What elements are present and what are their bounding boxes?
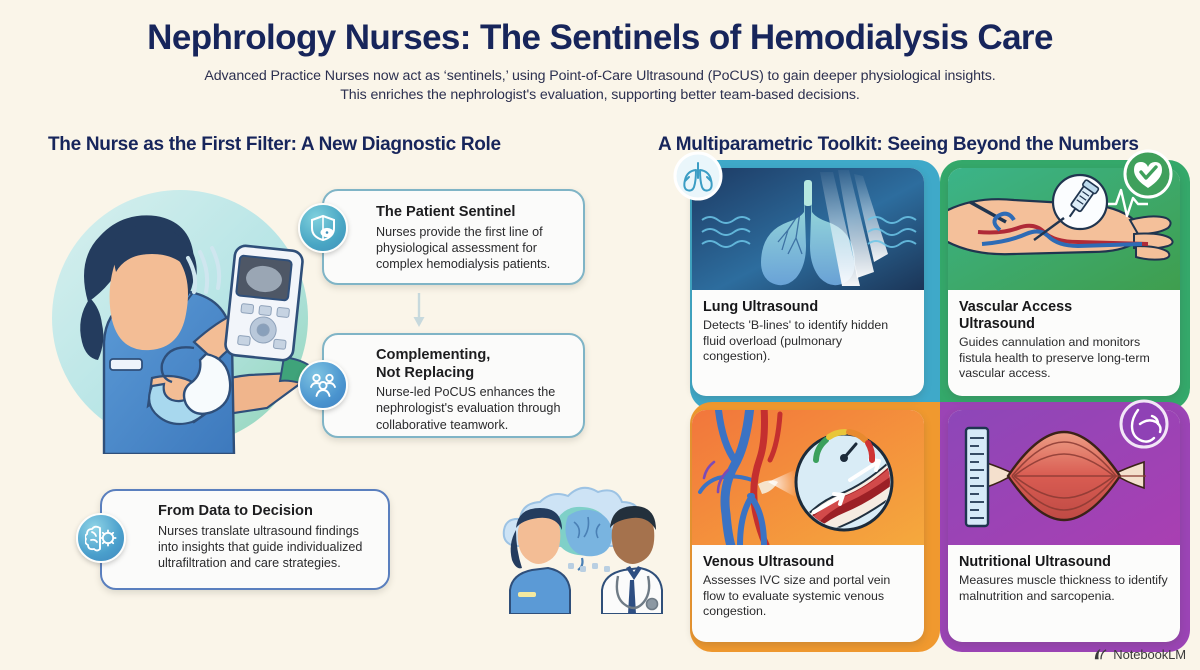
card-title: From Data to Decision <box>158 503 374 521</box>
card-complementing-not-replacing[interactable]: Complementing, Not Replacing Nurse-led P… <box>322 333 585 438</box>
card-description: Measures muscle thickness to identify ma… <box>959 573 1169 604</box>
card-description: Detects 'B-lines' to identify hidden flu… <box>703 318 913 365</box>
ultrasound-toolkit-grid: Lung Ultrasound Detects 'B-lines' to ide… <box>690 160 1190 652</box>
nurse-and-doctor-shared-thinking-illustration <box>484 484 684 614</box>
card-body: Nurses translate ultrasound findings int… <box>158 523 374 572</box>
page-title: Nephrology Nurses: The Sentinels of Hemo… <box>0 18 1200 58</box>
card-title: Lung Ultrasound <box>703 299 913 316</box>
connector-arrow-down-icon <box>412 291 426 331</box>
card-title-line-1: Vascular Access <box>959 299 1169 316</box>
nurse-performing-pocus-illustration <box>44 182 316 454</box>
flexed-bicep-icon <box>1118 398 1170 450</box>
card-vascular-access-ultrasound[interactable]: Vascular Access Ultrasound Guides cannul… <box>948 168 1180 396</box>
section-heading-left: The Nurse as the First Filter: A New Dia… <box>48 134 501 156</box>
card-title-line-1: Complementing, <box>376 347 569 365</box>
card-title-line-2: Ultrasound <box>959 316 1169 333</box>
lung-ultrasound-b-lines-illustration <box>692 168 924 290</box>
section-heading-right: A Multiparametric Toolkit: Seeing Beyond… <box>658 134 1139 156</box>
card-title: Venous Ultrasound <box>703 554 913 571</box>
lungs-icon <box>672 150 724 202</box>
card-lung-ultrasound[interactable]: Lung Ultrasound Detects 'B-lines' to ide… <box>692 168 924 396</box>
watermark-label: NotebookLM <box>1113 647 1186 662</box>
page-subtitle: Advanced Practice Nurses now act as ‘sen… <box>0 67 1200 105</box>
card-from-data-to-decision[interactable]: From Data to Decision Nurses translate u… <box>100 489 390 590</box>
card-title: The Patient Sentinel <box>376 204 569 222</box>
card-body: Nurses provide the first line of physiol… <box>376 224 569 273</box>
card-title-line-2: Not Replacing <box>376 365 569 383</box>
card-patient-sentinel[interactable]: The Patient Sentinel Nurses provide the … <box>322 189 585 285</box>
subtitle-line-1: Advanced Practice Nurses now act as ‘sen… <box>0 67 1200 86</box>
people-group-icon <box>298 360 348 410</box>
venous-doppler-ivc-flow-illustration <box>692 410 924 545</box>
card-description: Assesses IVC size and portal vein flow t… <box>703 573 913 620</box>
brain-gear-icon <box>76 513 126 563</box>
subtitle-line-2: This enriches the nephrologist's evaluat… <box>0 86 1200 105</box>
header: Nephrology Nurses: The Sentinels of Hemo… <box>0 0 1200 105</box>
card-body: Nurse-led PoCUS enhances the nephrologis… <box>376 384 569 433</box>
watermark: NotebookLM <box>1093 647 1186 662</box>
notebooklm-logo-icon <box>1093 647 1108 662</box>
shield-eye-icon <box>298 203 348 253</box>
card-description: Guides cannulation and monitors fistula … <box>959 335 1169 382</box>
infographic-canvas: Nephrology Nurses: The Sentinels of Hemo… <box>0 0 1200 670</box>
card-venous-ultrasound[interactable]: Venous Ultrasound Assesses IVC size and … <box>692 410 924 642</box>
heart-check-icon <box>1122 148 1174 200</box>
card-title: Nutritional Ultrasound <box>959 554 1169 571</box>
